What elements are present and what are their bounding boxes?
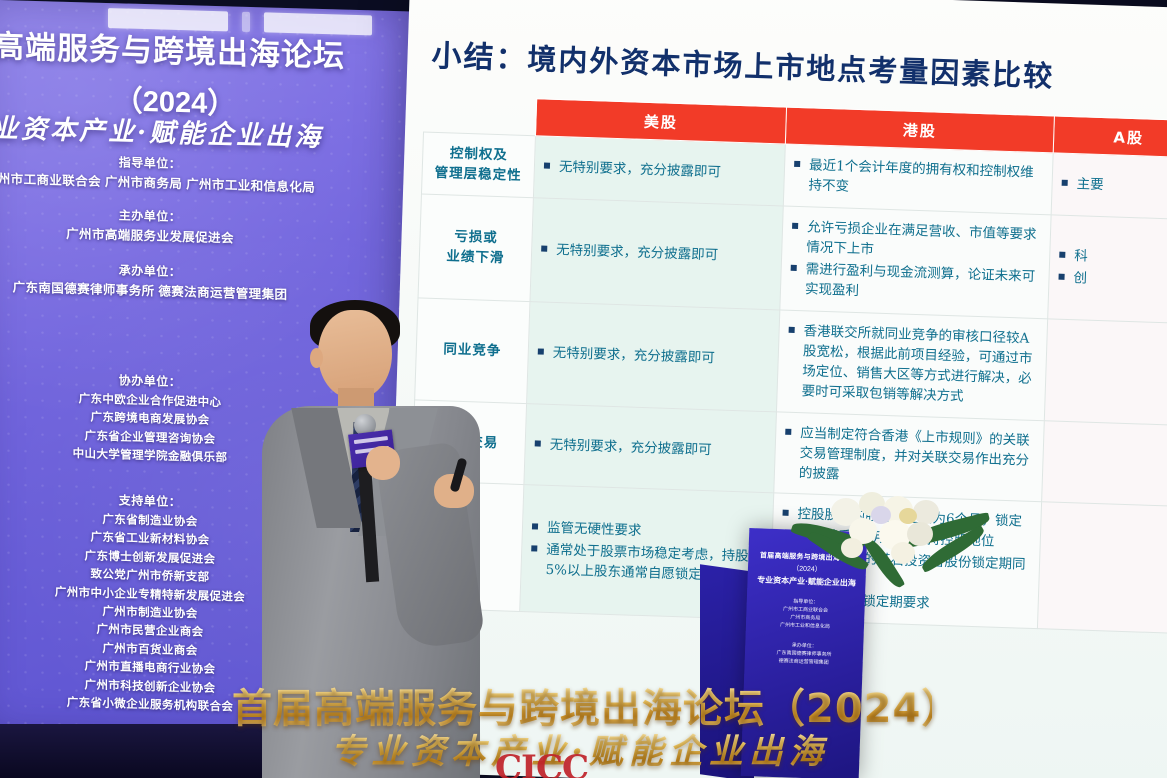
cell-hk-control: 最近1个会计年度的拥有权和控制权维持不变	[783, 144, 1053, 214]
cell-us-competition: 无特别要求，充分披露即可	[527, 301, 780, 411]
bullet: 最近1个会计年度的拥有权和控制权维持不变	[793, 155, 1043, 204]
flower-arrangement	[795, 492, 985, 588]
cell-us-control: 无特别要求，充分披露即可	[533, 136, 785, 206]
speaker-head	[318, 310, 392, 398]
cell-hk-competition: 香港联交所就同业竞争的审核口径较A股宽松，根据此前项目经验，可通过市场定位、销售…	[776, 309, 1047, 420]
slide-title-lead: 小结：	[431, 39, 528, 77]
cell-cn-related-party	[1042, 420, 1167, 507]
row-label-control: 控制权及管理层稳定性	[421, 132, 535, 197]
bullet: 主要	[1061, 174, 1167, 199]
cell-hk-related-party: 应当制定符合香港《上市规则》的关联交易管理制度，并对关联交易作出充分的披露	[774, 411, 1045, 502]
conference-photo-stage: 首届高端服务与跨境出海论坛 （2024） 专业资本产业·赋能企业出海 指导单位：…	[0, 0, 1167, 778]
bullet: 允许亏损企业在满足营收、市值等要求情况下上市	[791, 216, 1041, 265]
bullet: 无特别要求，充分披露即可	[534, 434, 766, 462]
speaker-person	[258, 296, 498, 778]
bullet: 无特别要求，充分披露即可	[544, 157, 776, 185]
cell-cn-control: 主要	[1051, 153, 1167, 219]
table-header-blank	[424, 95, 537, 136]
partner-logo-divider-icon	[242, 12, 250, 32]
bullet: 创	[1058, 268, 1167, 293]
cell-hk-loss: 允许亏损企业在满足营收、市值等要求情况下上市 需进行盈利与现金流测算，论证未来可…	[780, 205, 1051, 318]
speaker-ear	[310, 348, 323, 368]
speaker-hand-holding-mic	[366, 446, 400, 480]
bullet: 应当制定符合香港《上市规则》的关联交易管理制度，并对关联交易作出充分的披露	[784, 422, 1035, 491]
podium-block-guidance: 指导单位：广州市工商业联合会广州市商务局广州市工业和信息化局	[746, 596, 865, 632]
cell-cn-shareholder	[1037, 502, 1167, 633]
bullet: 无特别要求，充分披露即可	[537, 342, 769, 370]
bullet: 需进行盈利与现金流测算，论证未来可实现盈利	[790, 259, 1040, 308]
slide-title: 小结：境内外资本市场上市地点考量因素比较	[431, 31, 1167, 100]
cell-us-related-party: 无特别要求，充分披露即可	[524, 403, 777, 493]
partner-logo-left-icon	[108, 8, 228, 31]
cicc-logo: CICC	[495, 748, 588, 778]
row-label-loss: 亏损或业绩下滑	[418, 193, 533, 301]
slide-title-rest: 境内外资本市场上市地点考量因素比较	[527, 42, 1055, 93]
table-header-cn: A股	[1053, 116, 1167, 158]
bullet: 科	[1059, 245, 1167, 270]
podium-block-organizer: 承办单位：广东南国德赛律师事务所德赛法商运营管理集团	[745, 640, 864, 668]
cell-cn-loss: 科 创	[1048, 214, 1167, 323]
cell-cn-competition	[1044, 318, 1167, 425]
cell-us-loss: 无特别要求，充分披露即可	[530, 197, 783, 309]
bullet: 香港联交所就同业竞争的审核口径较A股宽松，根据此前项目经验，可通过市场定位、销售…	[786, 320, 1038, 409]
partner-logo-right-icon	[264, 12, 372, 35]
bullet: 无特别要求，充分披露即可	[541, 239, 773, 267]
